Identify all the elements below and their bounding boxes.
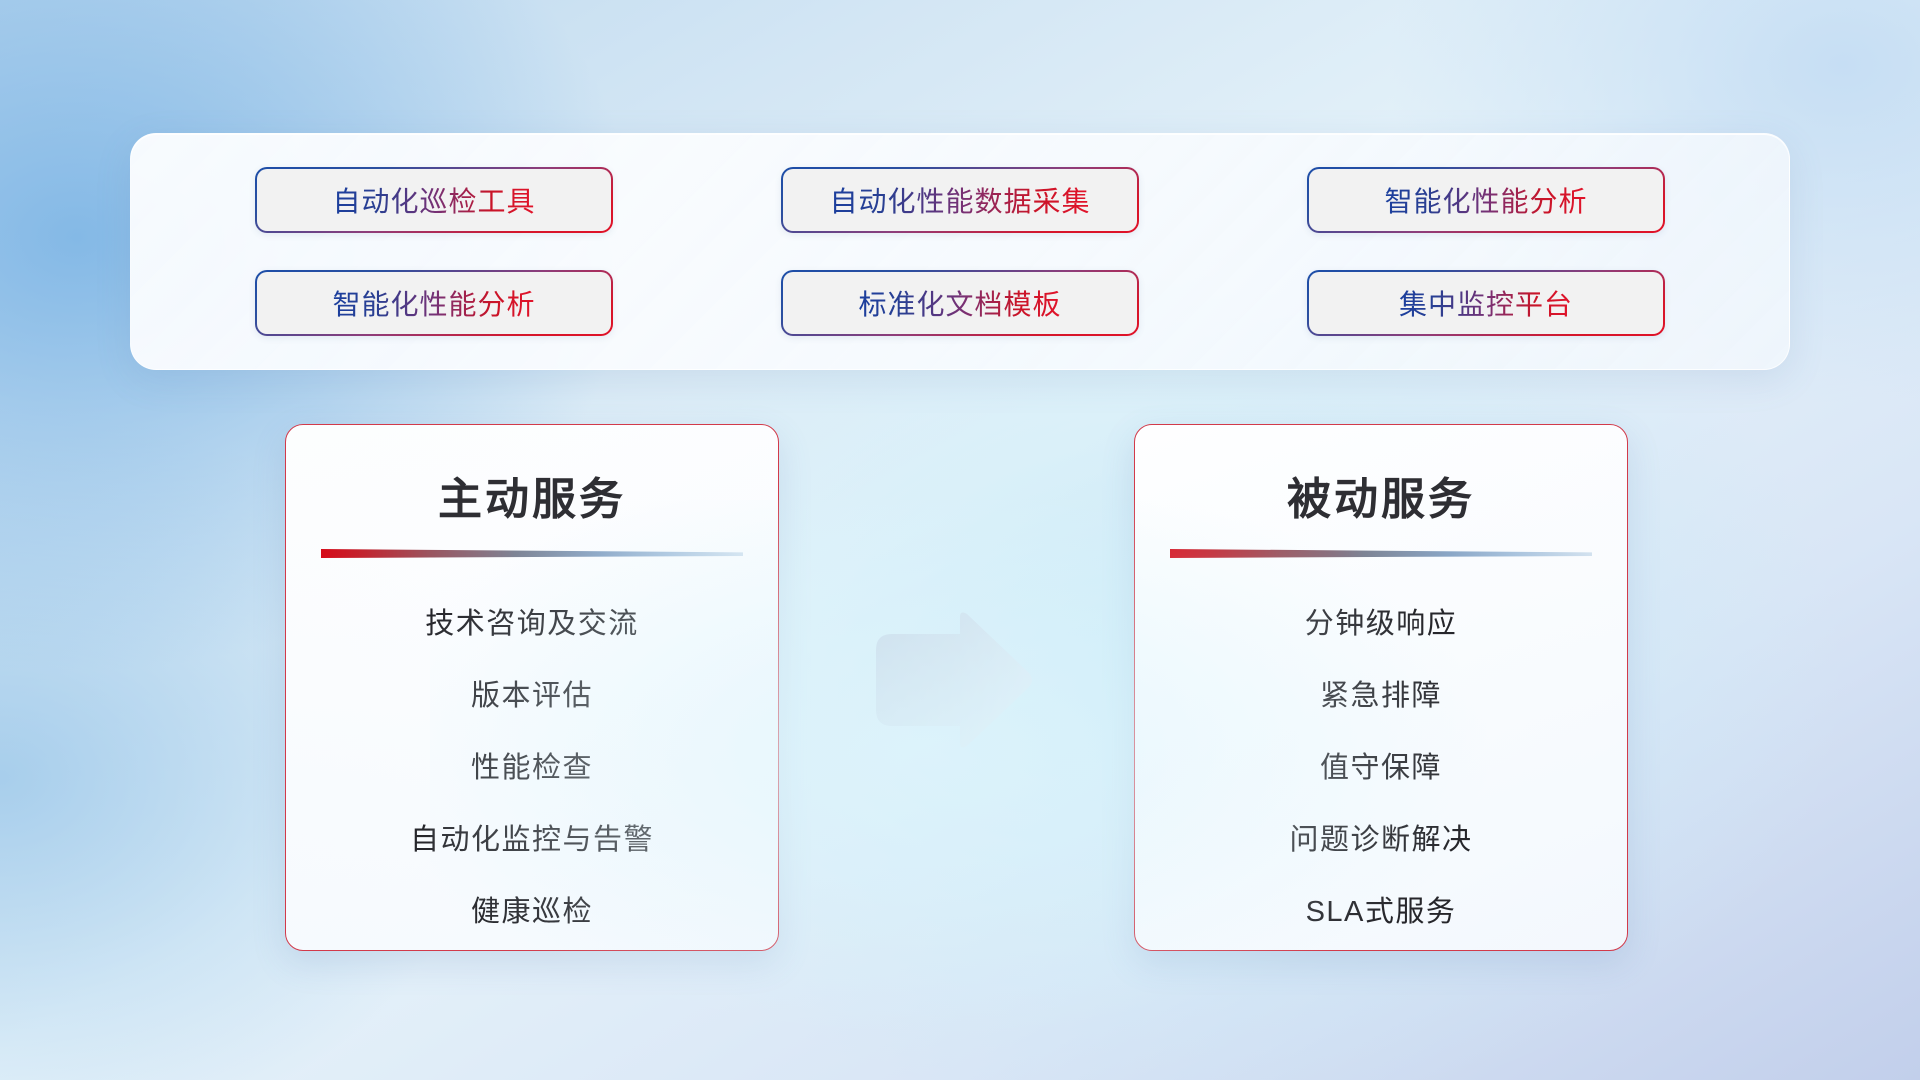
list-item: 紧急排障 (1320, 660, 1442, 732)
flow-arrow-right-icon (868, 610, 1036, 750)
card-title: 被动服务 (1135, 463, 1627, 527)
diagram-canvas: 自动化巡检工具 自动化性能数据采集 智能化性能分析 智能化性能分析 (0, 0, 1920, 1080)
capability-chip-surface: 智能化性能分析 (1309, 169, 1663, 231)
card-title-rule-shape (1170, 549, 1592, 558)
list-item: 健康巡检 (471, 876, 593, 948)
card-item-list: 技术咨询及交流 版本评估 性能检查 自动化监控与告警 健康巡检 (286, 588, 778, 948)
capability-chip-label: 自动化性能数据采集 (829, 180, 1090, 220)
capability-chip[interactable]: 集中监控平台 (1307, 270, 1665, 336)
service-card-reactive[interactable]: 被动服务 分钟级响应 紧急排障 值守保障 问题诊断解决 SLA式服务 (1134, 424, 1628, 951)
capability-chip[interactable]: 自动化性能数据采集 (781, 167, 1139, 233)
capability-chip-surface: 自动化性能数据采集 (783, 169, 1137, 231)
list-item: 自动化监控与告警 (410, 804, 654, 876)
capability-chip-surface: 标准化文档模板 (783, 272, 1137, 334)
list-item: 问题诊断解决 (1289, 804, 1472, 876)
list-item: SLA式服务 (1306, 876, 1457, 948)
list-item: 技术咨询及交流 (425, 588, 639, 660)
card-title-rule-shape (321, 549, 743, 558)
list-item: 性能检查 (471, 732, 593, 804)
capability-chip-label: 集中监控平台 (1399, 283, 1573, 323)
list-item: 版本评估 (471, 660, 593, 732)
list-item: 值守保障 (1320, 732, 1442, 804)
card-title: 主动服务 (286, 463, 778, 527)
capability-chip-label: 智能化性能分析 (332, 283, 535, 323)
service-card-proactive[interactable]: 主动服务 技术咨询及交流 版本评估 性能检查 自动化监控与告警 健康巡检 (285, 424, 779, 951)
capability-chip-label: 标准化文档模板 (858, 283, 1061, 323)
list-item: 分钟级响应 (1305, 588, 1458, 660)
capability-chip-label: 智能化性能分析 (1384, 180, 1587, 220)
capability-chip-label: 自动化巡检工具 (332, 180, 535, 220)
capability-chip[interactable]: 智能化性能分析 (255, 270, 613, 336)
card-title-rule (321, 549, 743, 558)
capability-chip[interactable]: 标准化文档模板 (781, 270, 1139, 336)
capability-chip[interactable]: 智能化性能分析 (1307, 167, 1665, 233)
capability-chip-surface: 集中监控平台 (1309, 272, 1663, 334)
capabilities-panel: 自动化巡检工具 自动化性能数据采集 智能化性能分析 智能化性能分析 (130, 133, 1790, 370)
card-item-list: 分钟级响应 紧急排障 值守保障 问题诊断解决 SLA式服务 (1135, 588, 1627, 948)
card-title-rule (1170, 549, 1592, 558)
capability-chip-surface: 自动化巡检工具 (257, 169, 611, 231)
capability-chip[interactable]: 自动化巡检工具 (255, 167, 613, 233)
capability-chip-surface: 智能化性能分析 (257, 272, 611, 334)
capabilities-grid: 自动化巡检工具 自动化性能数据采集 智能化性能分析 智能化性能分析 (131, 134, 1789, 369)
